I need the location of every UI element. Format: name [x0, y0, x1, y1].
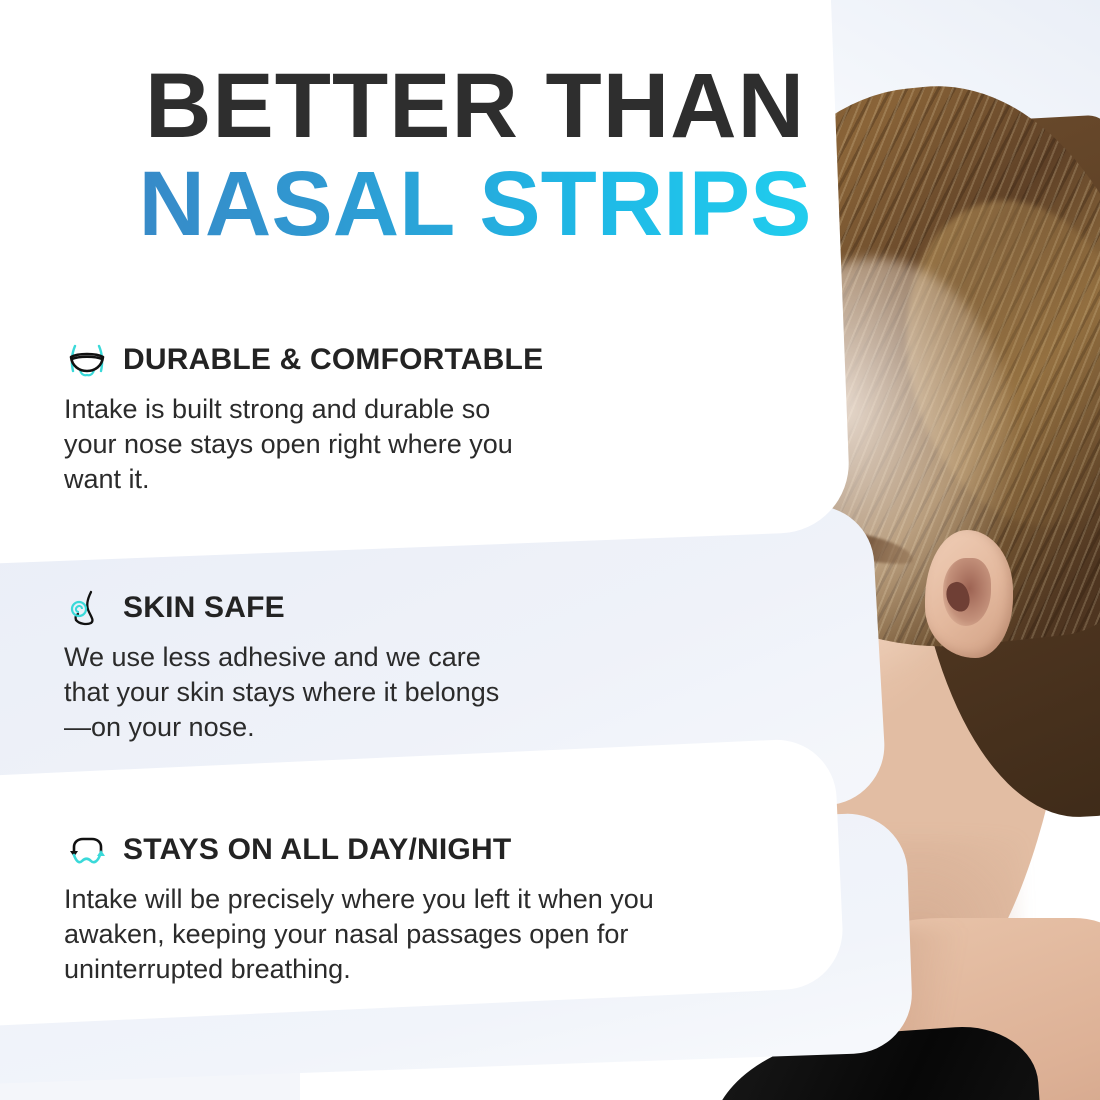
- feature-3-header: STAYS ON ALL DAY/NIGHT: [64, 830, 664, 870]
- feature-3-title: STAYS ON ALL DAY/NIGHT: [123, 833, 511, 867]
- feature-1-header: DURABLE & COMFORTABLE: [64, 340, 543, 380]
- feature-item-durable-comfortable: DURABLE & COMFORTABLE Intake is built st…: [64, 340, 543, 497]
- feature-2-body: We use less adhesive and we care that yo…: [64, 640, 514, 745]
- feature-item-skin-safe: SKIN SAFE We use less adhesive and we ca…: [64, 588, 514, 745]
- headline-line-1: BETTER THAN: [0, 62, 950, 150]
- promo-graphic: BETTER THAN NASAL STRIPS DURABLE & COMFO…: [0, 0, 1100, 1100]
- headline: BETTER THAN NASAL STRIPS: [0, 62, 950, 253]
- nose-profile-swirl-icon: [64, 588, 110, 628]
- nasal-dilator-airflow-icon: [64, 340, 110, 380]
- headline-line-2: NASAL STRIPS: [0, 156, 950, 253]
- feature-1-body: Intake is built strong and durable so yo…: [64, 392, 534, 497]
- feature-3-body: Intake will be precisely where you left …: [64, 882, 664, 987]
- dilator-cycle-arrows-icon: [64, 830, 110, 870]
- feature-2-header: SKIN SAFE: [64, 588, 514, 628]
- feature-item-stays-on: STAYS ON ALL DAY/NIGHT Intake will be pr…: [64, 830, 664, 987]
- feature-2-title: SKIN SAFE: [123, 591, 285, 625]
- feature-1-title: DURABLE & COMFORTABLE: [123, 343, 543, 377]
